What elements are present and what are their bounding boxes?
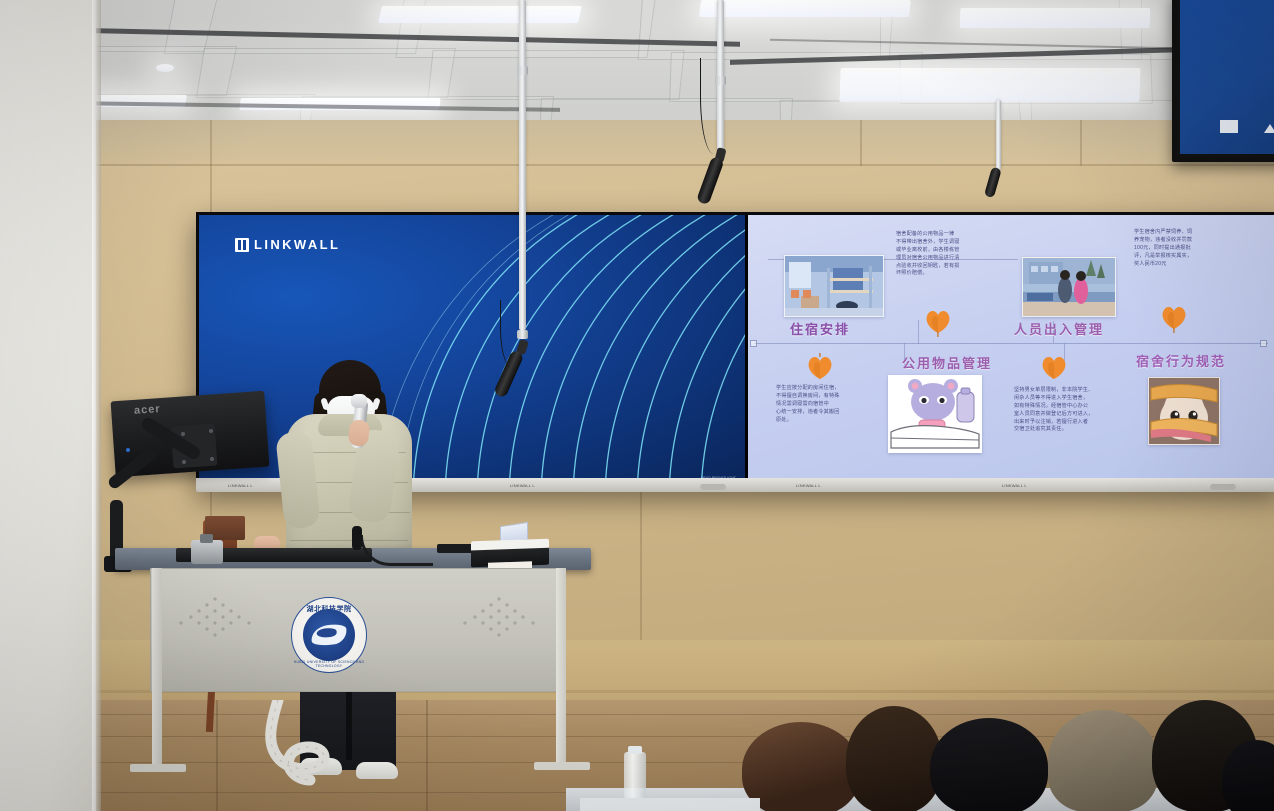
slide-photo-gate — [1022, 257, 1116, 317]
slide-title-entry: 人员出入管理 — [1014, 319, 1104, 338]
secondary-display — [1172, 0, 1274, 162]
floor-cable-icon — [248, 700, 344, 786]
lectern-foot-left — [130, 764, 186, 772]
mic-pole-1 — [519, 0, 526, 330]
university-crest-icon: 湖北科技学院 HUBEI UNIVERSITY OF SCIENCE AND T… — [291, 597, 367, 673]
slide-title-conduct: 宿舍行为规范 — [1136, 351, 1226, 370]
water-bottle-cap — [628, 746, 642, 754]
mic-pole-3 — [996, 100, 1001, 170]
mic-collar-1 — [517, 66, 528, 75]
panel-brand-text-3: LINKWALL L — [796, 483, 821, 488]
cartoon-in-bed-icon — [889, 376, 981, 452]
lectern-leg-right — [556, 568, 566, 764]
ceiling-light-panel — [378, 6, 582, 23]
panel-brand-text-4: LINKWALL L — [1002, 483, 1027, 488]
linkwall-mark-icon — [235, 238, 249, 252]
ceiling-light-panel — [839, 68, 1140, 102]
audience-head-with-beanie — [1048, 710, 1158, 811]
slide-photo-cat — [1148, 377, 1220, 445]
panel-brand-text-2: LINKWALL L — [510, 483, 535, 488]
perforation-pattern-icon — [167, 593, 263, 649]
emblem-inner-disc — [303, 609, 355, 661]
water-bottle — [624, 752, 646, 800]
lectern-foot-right — [534, 762, 590, 770]
panel-brand-text-1: LINKWALL L — [228, 483, 253, 488]
ginkgo-leaf-icon — [1040, 353, 1068, 383]
audience-head — [930, 718, 1048, 811]
wall-corner — [92, 0, 101, 811]
perforation-pattern-icon — [451, 593, 547, 649]
dorm-illustration-icon — [785, 256, 883, 316]
slide-photo-dorm — [784, 255, 884, 317]
left-wall — [0, 0, 96, 811]
linkwall-logo-text: LINKWALL — [254, 237, 340, 252]
wall-upper-band — [96, 120, 1274, 166]
microphone-base-icon[interactable] — [191, 540, 223, 564]
panel-control-button[interactable] — [700, 484, 726, 490]
panel-control-button[interactable] — [1210, 484, 1236, 490]
ceiling-light-panel — [960, 8, 1151, 28]
slide-title-public-goods: 公用物品管理 — [902, 353, 992, 372]
slide-body-housing: 宿舍配备的公用物品一律 不得带出宿舍外，学生调寝 或毕业离校前，由各楼栋管 理员… — [896, 231, 992, 278]
cat-sandwich-meme-icon — [1149, 378, 1219, 444]
slide-body-conduct: 坚持男女单层限制，非本院学生、 闲杂人员等不得进入学生宿舍， 如有特殊情况，经宿… — [1014, 387, 1130, 434]
ginkgo-leaf-icon — [924, 307, 952, 337]
slide-photo-bed — [888, 375, 982, 453]
presentation-slide: 宿舍配备的公用物品一律 不得带出宿舍外，学生调寝 或毕业离校前，由各楼栋管 理员… — [748, 215, 1274, 487]
ginkgo-leaf-icon — [806, 353, 834, 383]
emblem-english-name: HUBEI UNIVERSITY OF SCIENCE AND TECHNOLO… — [292, 660, 366, 668]
lecture-hall-photo: LINKWALL HEAD BRIGHTLIGHT — [0, 0, 1274, 811]
ginkgo-leaf-icon — [1160, 303, 1188, 333]
slide-title-housing: 住宿安排 — [790, 319, 850, 338]
display-right-panel: 宿舍配备的公用物品一律 不得带出宿舍外，学生调寝 或毕业离校前，由各楼栋管 理员… — [748, 215, 1274, 487]
lectern-leg-left — [152, 568, 162, 764]
linkwall-logo: LINKWALL — [235, 237, 340, 252]
ceiling-light-panel — [699, 0, 911, 17]
gooseneck-mic-head-icon — [352, 526, 362, 550]
arc-graphic — [385, 215, 745, 487]
slide-body-entry: 学生宿舍内严禁饲养、饲 养宠物，违者没收并罚款 100元，同时提出通报批 评，凡… — [1134, 229, 1238, 268]
presenter-shoe-right — [356, 762, 398, 779]
slide-body-public-goods: 学生应按分配的房间住宿， 不得擅自调换房间，有特殊 情况需调寝需向宿管中 心统一… — [776, 385, 876, 424]
campus-gate-illustration-icon — [1023, 258, 1115, 316]
ceiling-downlight — [156, 64, 174, 72]
microphone-head-icon — [351, 394, 367, 408]
acer-logo-text: acer — [134, 403, 161, 417]
audience-head — [846, 706, 942, 811]
emblem-bird-icon — [310, 623, 348, 648]
secondary-display-screen — [1180, 0, 1274, 154]
audience-desk-edge — [580, 798, 760, 811]
